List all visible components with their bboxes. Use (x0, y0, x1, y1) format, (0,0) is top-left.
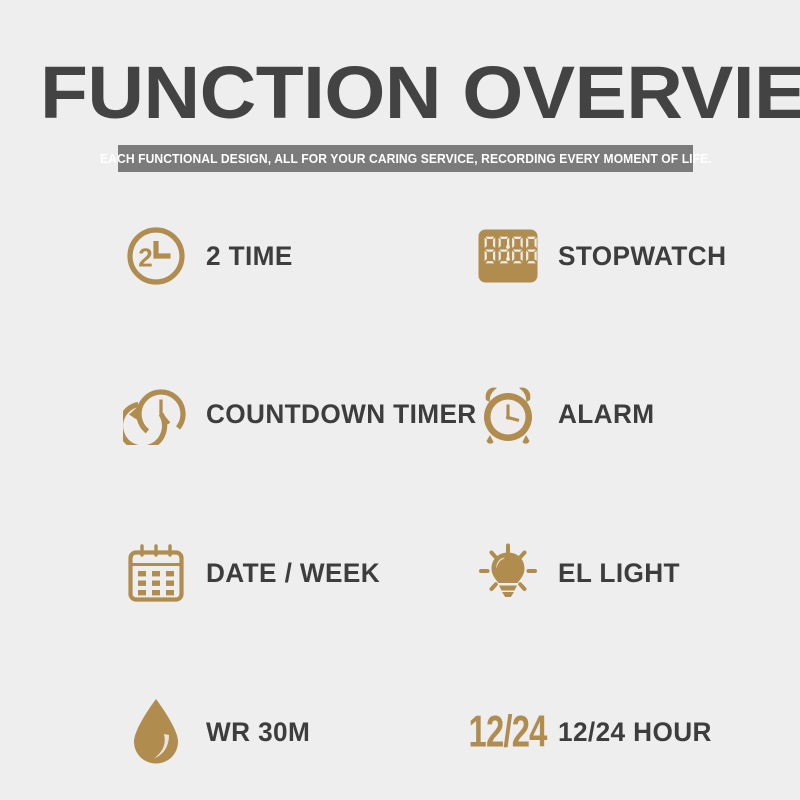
feature-label: EL LIGHT (558, 558, 680, 589)
calendar-icon (118, 535, 194, 611)
feature-list: 2 2 TIME (0, 196, 800, 796)
alarm-clock-icon (470, 376, 546, 452)
page-title: FUNCTION OVERVIEW (40, 56, 800, 130)
water-droplet-icon (118, 694, 194, 770)
feature-item-2-time[interactable]: 2 2 TIME (118, 201, 448, 311)
feature-label: DATE / WEEK (206, 558, 380, 589)
lightbulb-icon (470, 535, 546, 611)
twelve-twentyfour-text: 12/24 (469, 707, 547, 757)
feature-label: STOPWATCH (558, 241, 726, 272)
feature-label: COUNTDOWN TIMER (206, 399, 477, 430)
feature-item-el-light[interactable]: EL LIGHT (470, 518, 790, 628)
feature-item-alarm[interactable]: ALARM (470, 359, 790, 469)
feature-item-12-24-hour[interactable]: 12/24 12/24 HOUR (470, 677, 790, 787)
feature-item-countdown-timer[interactable]: COUNTDOWN TIMER (118, 359, 448, 469)
feature-item-stopwatch[interactable]: STOPWATCH (470, 201, 790, 311)
feature-item-wr-30m[interactable]: WR 30M (118, 677, 448, 787)
subtitle-banner: EACH FUNCTIONAL DESIGN, ALL FOR YOUR CAR… (118, 145, 693, 172)
feature-label: WR 30M (206, 717, 310, 748)
twelve-twentyfour-text-icon: 12/24 (470, 694, 546, 770)
svg-text:2: 2 (138, 243, 152, 273)
feature-item-date-week[interactable]: DATE / WEEK (118, 518, 448, 628)
two-time-clock-icon: 2 (118, 218, 194, 294)
countdown-timer-icon (118, 376, 194, 452)
subtitle-text: EACH FUNCTIONAL DESIGN, ALL FOR YOUR CAR… (100, 151, 712, 166)
feature-label: ALARM (558, 399, 654, 430)
feature-label: 12/24 HOUR (558, 717, 712, 748)
feature-label: 2 TIME (206, 241, 293, 272)
stopwatch-digital-icon (470, 218, 546, 294)
